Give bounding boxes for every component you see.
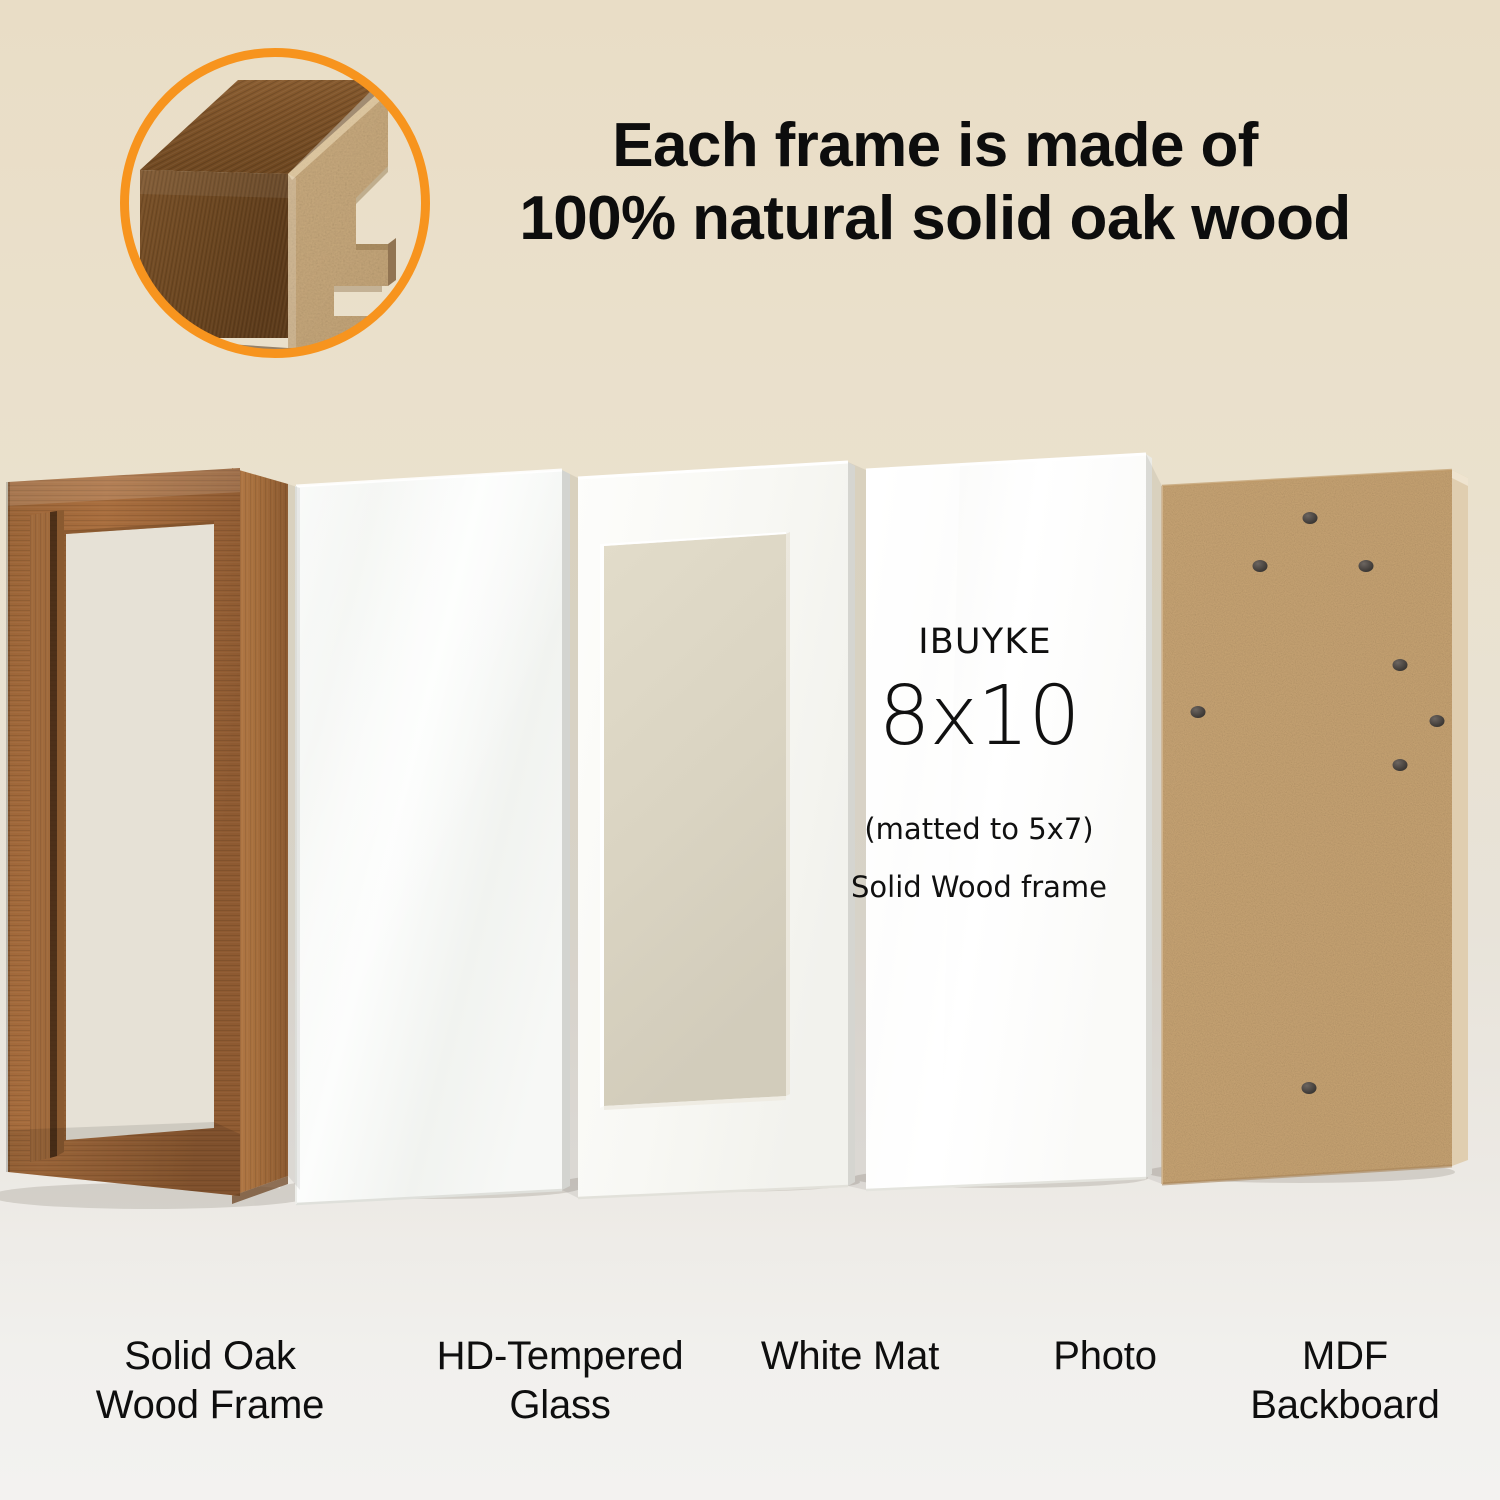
caption-line-1: Solid Oak [20, 1332, 400, 1381]
caption-line-1: MDF [1190, 1332, 1500, 1381]
fastener-dot [1191, 706, 1206, 718]
panels-svg [0, 0, 1500, 1260]
fastener-dot [1303, 512, 1318, 524]
mat-window [604, 534, 786, 1106]
panel-mdf-backboard[interactable] [1162, 470, 1468, 1184]
mat-bevel-left [600, 544, 604, 1108]
caption-solid-oak-wood-frame: Solid Oak Wood Frame [20, 1332, 400, 1430]
component-caption-row: Solid Oak Wood Frame HD-Tempered Glass W… [0, 1332, 1500, 1472]
infographic-canvas: Each frame is made of 100% natural solid… [0, 0, 1500, 1500]
fastener-dot [1359, 560, 1374, 572]
frame-opening [66, 524, 214, 1140]
photo-size-label: 8x10 [856, 676, 1102, 758]
fastener-dot [1393, 659, 1408, 671]
glass-sheen [296, 470, 562, 1204]
frame-left-edge [6, 482, 10, 1172]
caption-line-2: Glass [370, 1381, 750, 1430]
fastener-dot [1393, 759, 1408, 771]
fastener-dot [1253, 560, 1268, 572]
panel-white-mat[interactable] [578, 462, 855, 1198]
caption-line-2: Backboard [1190, 1381, 1500, 1430]
panel-solid-oak-wood-frame[interactable] [6, 468, 288, 1204]
mat-bevel-right [786, 532, 790, 1096]
mdf-thickness-edge [1452, 470, 1468, 1166]
fastener-dot [1430, 715, 1445, 727]
photo-material-label: Solid Wood frame [846, 870, 1112, 904]
caption-mdf-backboard: MDF Backboard [1190, 1332, 1500, 1430]
frame-depth-grain [232, 468, 288, 1196]
exploded-component-stack [0, 0, 1500, 1260]
panel-hd-tempered-glass[interactable] [296, 470, 570, 1204]
photo-brand-label: IBUYKE [862, 622, 1108, 662]
mdf-texture [1162, 470, 1452, 1184]
fastener-dot [1302, 1082, 1317, 1094]
caption-line-2: Wood Frame [20, 1381, 400, 1430]
frame-rabbet-groove [30, 510, 64, 1162]
photo-matted-label: (matted to 5x7) [846, 812, 1112, 846]
